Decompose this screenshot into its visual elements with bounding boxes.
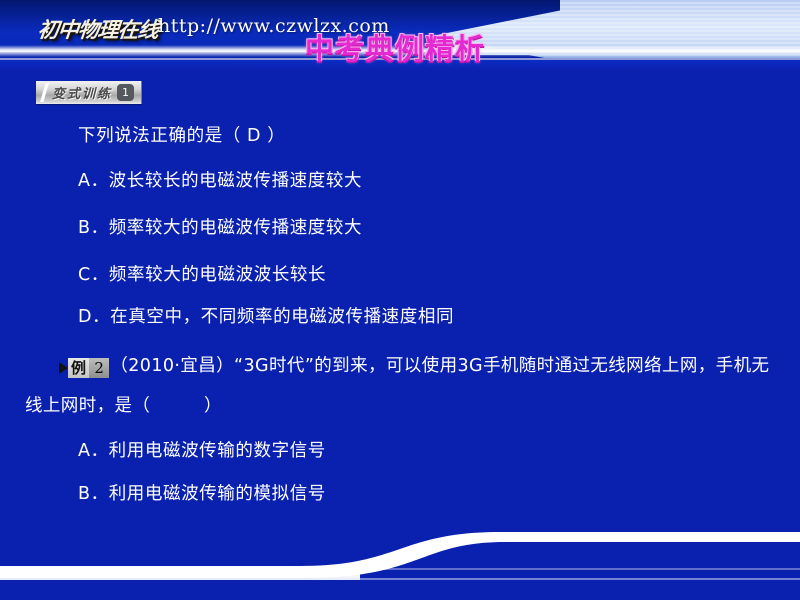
- q1-option-b: B．频率较大的电磁波传播速度较大: [78, 214, 362, 239]
- ribbon-hairline: [0, 568, 800, 570]
- q2-stem: （2010·宜昌）“3G时代”的到来，可以使用3G手机随时通过无线网络上网，手机…: [25, 356, 769, 416]
- q2-block: 例2（2010·宜昌）“3G时代”的到来，可以使用3G手机随时通过无线网络上网，…: [25, 346, 780, 426]
- section-badge: 变式训练 1: [36, 81, 142, 104]
- q2-option-a: A．利用电磁波传输的数字信号: [78, 437, 326, 462]
- q2-tag-number: 2: [89, 358, 109, 378]
- page-title: 中考典例精析: [305, 26, 485, 68]
- q1-option-a: A．波长较长的电磁波传播速度较大: [78, 167, 362, 192]
- slide-canvas: 初中物理在线 http://www.czwlzx.com 中考典例精析 变式训练…: [0, 0, 800, 600]
- q2-example-tag: 例2: [59, 358, 109, 378]
- site-logo: 初中物理在线: [36, 14, 159, 44]
- badge-chip: 变式训练 1: [36, 81, 142, 104]
- ribbon-hairline-lower: [0, 578, 800, 580]
- triangle-icon: [59, 362, 68, 374]
- q1-stem: 下列说法正确的是（ D ）: [78, 122, 285, 147]
- ribbon-left-band: [0, 570, 360, 580]
- badge-label: 变式训练: [52, 83, 112, 102]
- q1-option-d: D．在真空中，不同频率的电磁波传播速度相同: [78, 303, 454, 328]
- q2-tag-word: 例: [68, 358, 89, 378]
- header-banner: 初中物理在线 http://www.czwlzx.com 中考典例精析: [0, 0, 800, 70]
- ribbon-curve: [0, 532, 800, 578]
- badge-number: 1: [117, 84, 134, 101]
- q1-option-c: C．频率较大的电磁波波长较长: [78, 261, 326, 286]
- badge-slash-icon: [40, 83, 49, 102]
- q2-option-b: B．利用电磁波传输的模拟信号: [78, 480, 326, 505]
- bottom-ribbon: [0, 508, 800, 600]
